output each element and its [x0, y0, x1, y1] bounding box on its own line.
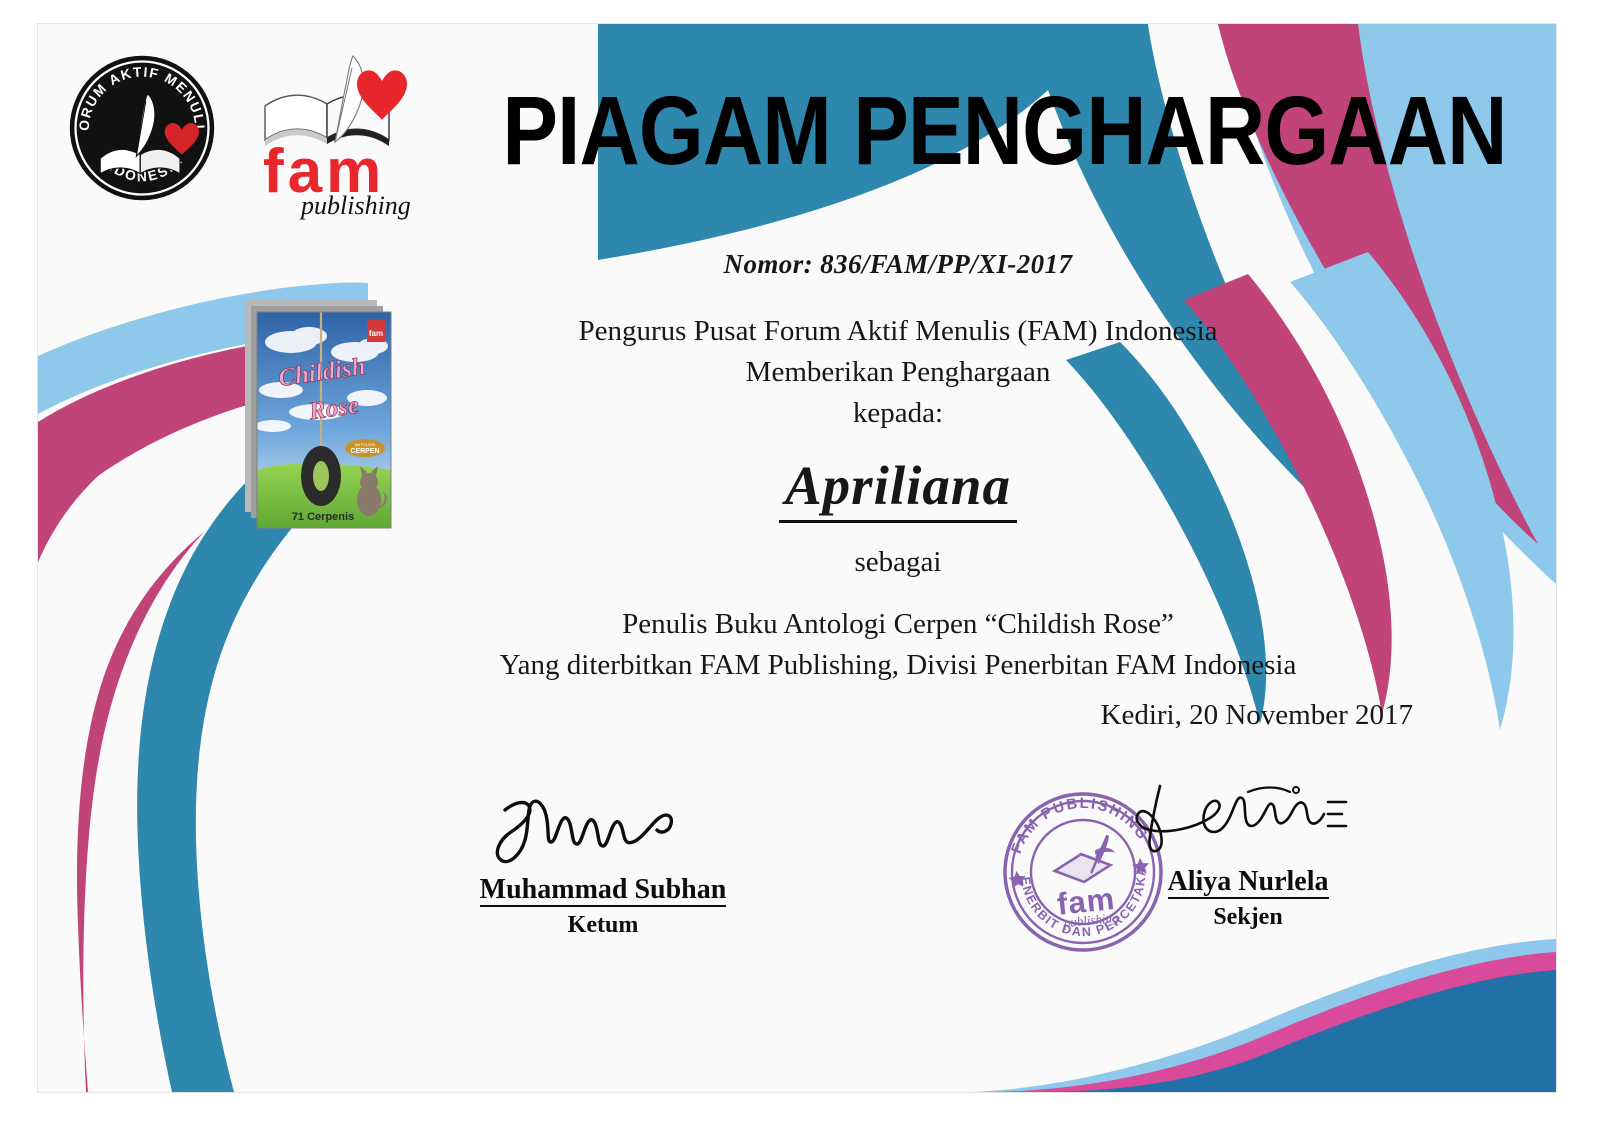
svg-text:ANTOLOGI: ANTOLOGI	[355, 442, 376, 447]
fam-publishing-logo: fam publishing	[253, 54, 413, 222]
antologi-cerpen-badge: ANTOLOGI CERPEN	[345, 439, 385, 457]
awarding-line-3: kepada:	[458, 393, 1338, 434]
fam-corner-badge: fam	[367, 320, 385, 342]
signature-block-ketum: Muhammad Subhan Ketum	[453, 784, 753, 939]
signature-role: Ketum	[453, 912, 753, 939]
signature-scribble-aliya-nurlela	[1098, 776, 1398, 866]
role-line-1: Penulis Buku Antologi Cerpen “Childish R…	[418, 604, 1378, 645]
signature-role: Sekjen	[1098, 904, 1398, 931]
signature-block-sekjen: Aliya Nurlela Sekjen	[1098, 776, 1398, 931]
book-footer-text: 71 Cerpenis	[292, 511, 354, 523]
publishing-tagline: publishing	[299, 191, 411, 220]
certificate-sheet: FORUM AKTIF MENULIS INDONESIA	[38, 24, 1556, 1092]
signature-name: Aliya Nurlela	[1168, 866, 1329, 899]
place-and-date: Kediri, 20 November 2017	[738, 699, 1413, 732]
forum-aktif-menulis-indonesia-logo: FORUM AKTIF MENULIS INDONESIA	[66, 52, 218, 204]
as-label: sebagai	[458, 546, 1338, 579]
recipient-name: Apriliana	[458, 454, 1338, 517]
awarding-statement: Pengurus Pusat Forum Aktif Menulis (FAM)…	[458, 311, 1338, 435]
svg-text:fam: fam	[369, 329, 383, 338]
signature-name: Muhammad Subhan	[480, 874, 727, 907]
awarding-line-2: Memberikan Penghargaan	[458, 352, 1338, 393]
recipient-name-text: Apriliana	[779, 455, 1017, 523]
awarding-line-1: Pengurus Pusat Forum Aktif Menulis (FAM)…	[458, 311, 1338, 352]
role-line-2: Yang diterbitkan FAM Publishing, Divisi …	[418, 645, 1378, 686]
book-cover-childish-rose: Childish Rose ANTOLOGI CERPEN fam 71 Cer…	[243, 294, 413, 549]
certificate-number: Nomor: 836/FAM/PP/XI-2017	[458, 249, 1338, 280]
role-description: Penulis Buku Antologi Cerpen “Childish R…	[418, 604, 1378, 686]
certificate-page: FORUM AKTIF MENULIS INDONESIA	[0, 0, 1600, 1132]
signature-scribble-muhammad-subhan	[453, 784, 753, 874]
svg-text:CERPEN: CERPEN	[350, 448, 379, 455]
page-title: PIAGAM PENGHARGAAN	[502, 82, 1293, 179]
